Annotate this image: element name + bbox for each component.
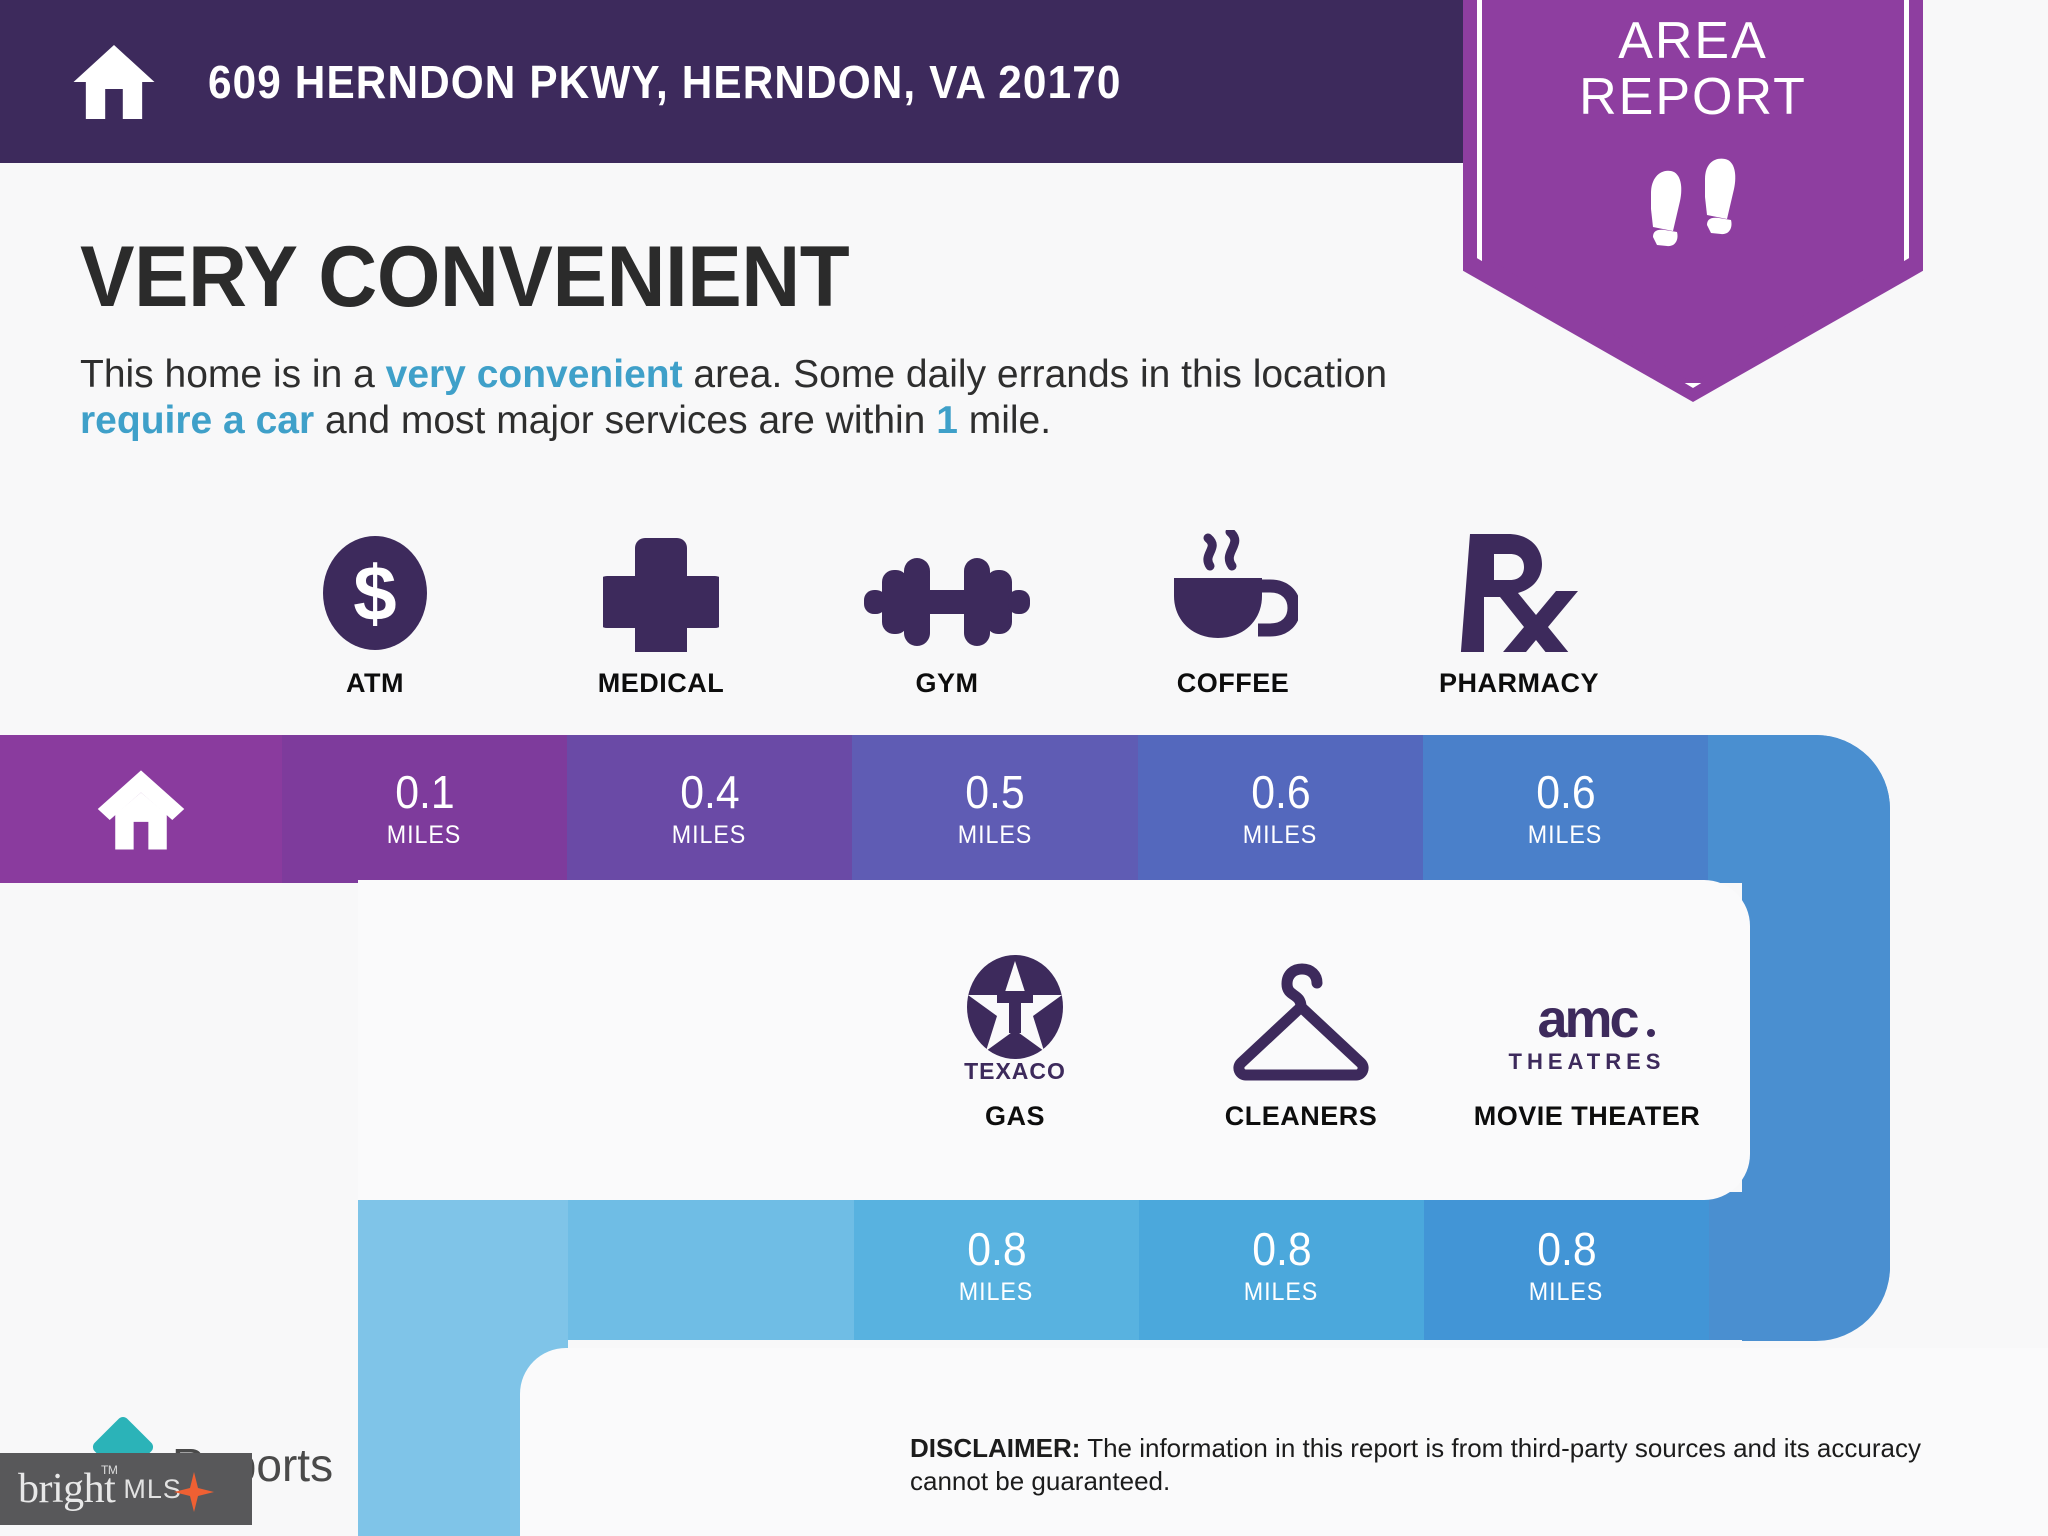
distance-value: 0.8: [1252, 1226, 1311, 1272]
amenity-atm: $ ATM: [232, 522, 518, 699]
distance-cell-gas: 0.8 MILES: [854, 1192, 1139, 1340]
amenity-pharmacy: PHARMACY: [1376, 522, 1662, 699]
distance-cell-cleaners: 0.8 MILES: [1139, 1192, 1424, 1340]
amenity-label: MEDICAL: [598, 668, 725, 699]
home-icon: [70, 38, 158, 126]
svg-text:THEATRES: THEATRES: [1509, 1049, 1666, 1074]
amenity-gas: TEXACO GAS: [872, 955, 1158, 1132]
distance-unit: MILES: [1243, 821, 1317, 850]
brand-wordmark: bright TM: [18, 1465, 115, 1513]
home-marker-segment: [0, 735, 282, 883]
amenity-coffee: COFFEE: [1090, 522, 1376, 699]
distance-bar-row-2: 0.8 MILES 0.8 MILES 0.8 MILES: [358, 1192, 1890, 1340]
distance-value: 0.4: [680, 769, 739, 815]
intro-highlight-1: very convenient: [386, 353, 683, 396]
distance-cell-coffee: 0.6 MILES: [1138, 735, 1423, 883]
distance-unit: MILES: [1528, 821, 1602, 850]
amenity-icon-row-2: TEXACO GAS CLEANERS amc THEATRES: [872, 955, 1730, 1132]
distance-value: 0.8: [967, 1226, 1026, 1272]
intro-part-4: mile.: [958, 399, 1051, 442]
amenity-label: MOVIE THEATER: [1474, 1101, 1701, 1132]
amenity-medical: MEDICAL: [518, 522, 804, 699]
amenity-label: COFFEE: [1177, 668, 1290, 699]
amenity-icon-row-1: $ ATM MEDICAL: [232, 522, 1662, 699]
amenity-movie-theater: amc THEATRES MOVIE THEATER: [1444, 955, 1730, 1132]
distance-value: 0.6: [1536, 769, 1595, 815]
svg-text:$: $: [353, 549, 396, 637]
distance-unit: MILES: [1244, 1278, 1318, 1307]
distance-bar-row-1: 0.1 MILES 0.4 MILES 0.5 MILES 0.6 MILES …: [0, 735, 1890, 883]
page-title: VERY CONVENIENT: [80, 228, 849, 327]
badge-line-2: REPORT: [1463, 70, 1923, 126]
distance-unit: MILES: [387, 821, 461, 850]
distance-cell-pharmacy: 0.6 MILES: [1423, 735, 1708, 883]
distance-value: 0.6: [1251, 769, 1310, 815]
dumbbell-icon: [864, 522, 1030, 652]
badge-title: AREA REPORT: [1463, 14, 1923, 125]
property-address: 609 HERNDON PKWY, HERNDON, VA 20170: [208, 55, 1122, 109]
header-bar: 609 HERNDON PKWY, HERNDON, VA 20170: [0, 0, 1500, 163]
disclaimer: DISCLAIMER: The information in this repo…: [910, 1432, 1970, 1498]
medical-cross-icon: [603, 522, 719, 652]
distance-value: 0.5: [965, 769, 1024, 815]
area-report-badge: AREA REPORT: [1463, 0, 1923, 402]
amenity-cleaners: CLEANERS: [1158, 955, 1444, 1132]
intro-paragraph: This home is in a very convenient area. …: [80, 352, 1480, 444]
intro-highlight-2: require a car: [80, 399, 314, 442]
coffee-cup-icon: [1168, 522, 1298, 652]
intro-part-3: and most major services are within: [314, 399, 936, 442]
dollar-circle-icon: $: [321, 522, 429, 652]
footprints-icon: [1633, 157, 1753, 267]
disclaimer-label: DISCLAIMER:: [910, 1433, 1080, 1463]
amenity-label: CLEANERS: [1225, 1101, 1378, 1132]
svg-text:TEXACO: TEXACO: [964, 1058, 1066, 1084]
distance-unit: MILES: [958, 821, 1032, 850]
distance-cell-medical: 0.4 MILES: [567, 735, 852, 883]
texaco-star-icon: TEXACO: [959, 955, 1071, 1085]
ribbon-lead-2: [568, 1192, 854, 1340]
distance-cell-gym: 0.5 MILES: [852, 735, 1138, 883]
amenity-label: ATM: [346, 668, 404, 699]
badge-line-1: AREA: [1463, 14, 1923, 70]
coat-hanger-icon: [1230, 955, 1372, 1085]
distance-cell-atm: 0.1 MILES: [282, 735, 567, 883]
area-report-page: 609 HERNDON PKWY, HERNDON, VA 20170 AREA…: [0, 0, 2048, 1536]
intro-part-1: This home is in a: [80, 353, 386, 396]
rx-icon: [1460, 522, 1578, 652]
ribbon-right-connector: [1742, 735, 1890, 1341]
distance-value: 0.8: [1537, 1226, 1596, 1272]
intro-part-2: area. Some daily errands in this locatio…: [683, 353, 1388, 396]
distance-cell-movie-theater: 0.8 MILES: [1424, 1192, 1709, 1340]
sparkle-icon: [172, 1470, 216, 1514]
home-icon: [95, 766, 187, 852]
amenity-label: PHARMACY: [1439, 668, 1599, 699]
distance-unit: MILES: [672, 821, 746, 850]
amenity-label: GAS: [985, 1101, 1045, 1132]
trademark-symbol: TM: [101, 1463, 117, 1477]
amenity-gym: GYM: [804, 522, 1090, 699]
distance-unit: MILES: [959, 1278, 1033, 1307]
amc-theatres-icon: amc THEATRES: [1508, 955, 1666, 1085]
amenity-label: GYM: [915, 668, 978, 699]
distance-unit: MILES: [1529, 1278, 1603, 1307]
intro-highlight-3: 1: [936, 399, 958, 442]
svg-text:amc: amc: [1537, 989, 1638, 1049]
distance-value: 0.1: [395, 769, 454, 815]
